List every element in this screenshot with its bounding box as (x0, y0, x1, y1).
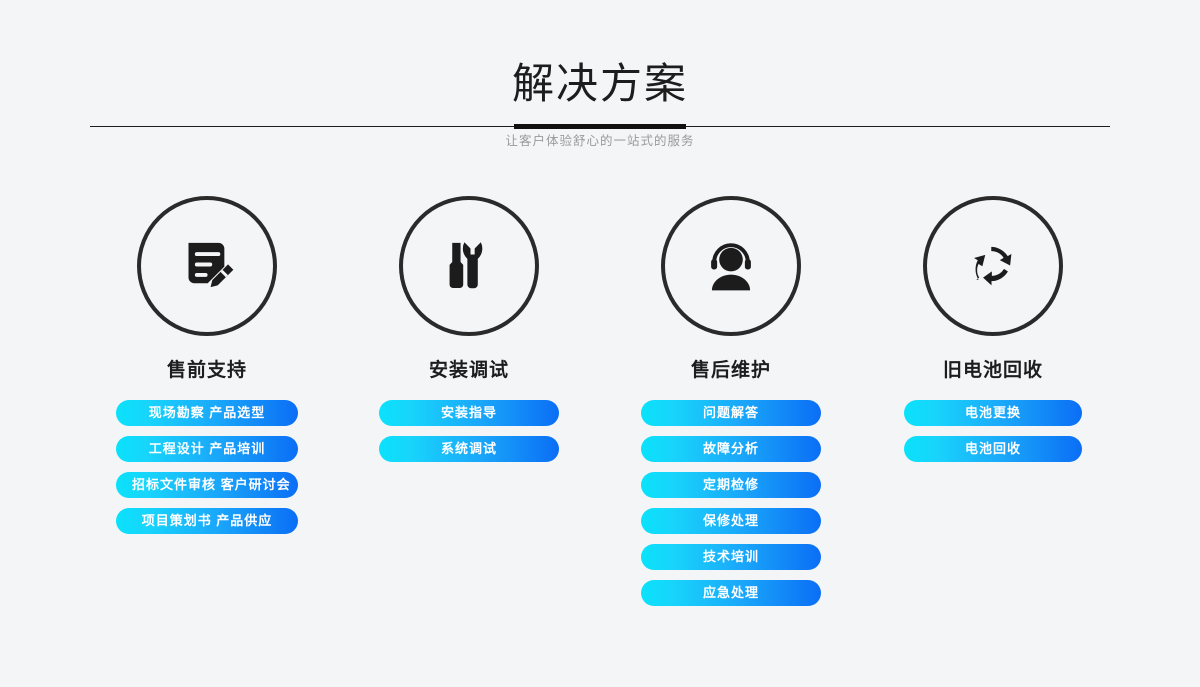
service-pill[interactable]: 项目策划书 产品供应 (116, 508, 298, 534)
screwdriver-wrench-icon (399, 196, 539, 336)
service-pill-list: 问题解答 故障分析 定期检修 保修处理 技术培训 应急处理 (641, 400, 821, 606)
column-title: 售后维护 (691, 358, 771, 384)
service-pill-list: 电池更换 电池回收 (904, 400, 1082, 462)
solution-column-pre-sales: 售前支持 现场勘察 产品选型 工程设计 产品培训 招标文件审核 客户研讨会 项目… (76, 196, 338, 534)
solution-columns: 售前支持 现场勘察 产品选型 工程设计 产品培训 招标文件审核 客户研讨会 项目… (0, 196, 1200, 606)
service-pill[interactable]: 工程设计 产品培训 (116, 436, 298, 462)
service-pill[interactable]: 定期检修 (641, 472, 821, 498)
solution-column-after-sales: 售后维护 问题解答 故障分析 定期检修 保修处理 技术培训 应急处理 (600, 196, 862, 606)
service-pill[interactable]: 电池回收 (904, 436, 1082, 462)
solution-column-installation: 安装调试 安装指导 系统调试 (338, 196, 600, 462)
document-pencil-icon (137, 196, 277, 336)
service-pill[interactable]: 问题解答 (641, 400, 821, 426)
service-pill[interactable]: 电池更换 (904, 400, 1082, 426)
service-pill[interactable]: 技术培训 (641, 544, 821, 570)
service-pill[interactable]: 保修处理 (641, 508, 821, 534)
column-title: 售前支持 (167, 358, 247, 384)
title-divider (90, 124, 1110, 130)
page-subtitle: 让客户体验舒心的一站式的服务 (0, 132, 1200, 150)
divider-accent-bar (514, 124, 686, 129)
service-pill[interactable]: 现场勘察 产品选型 (116, 400, 298, 426)
service-pill[interactable]: 安装指导 (379, 400, 559, 426)
service-pill[interactable]: 招标文件审核 客户研讨会 (116, 472, 298, 498)
column-title: 旧电池回收 (943, 358, 1043, 384)
page-header: 解决方案 让客户体验舒心的一站式的服务 (0, 0, 1200, 160)
headset-agent-icon (661, 196, 801, 336)
service-pill-list: 现场勘察 产品选型 工程设计 产品培训 招标文件审核 客户研讨会 项目策划书 产… (116, 400, 298, 534)
service-pill[interactable]: 系统调试 (379, 436, 559, 462)
service-pill-list: 安装指导 系统调试 (379, 400, 559, 462)
solution-column-battery-recycling: 旧电池回收 电池更换 电池回收 (862, 196, 1124, 462)
column-title: 安装调试 (429, 358, 509, 384)
page-title: 解决方案 (0, 58, 1200, 110)
recycle-arrows-icon (923, 196, 1063, 336)
service-pill[interactable]: 应急处理 (641, 580, 821, 606)
service-pill[interactable]: 故障分析 (641, 436, 821, 462)
